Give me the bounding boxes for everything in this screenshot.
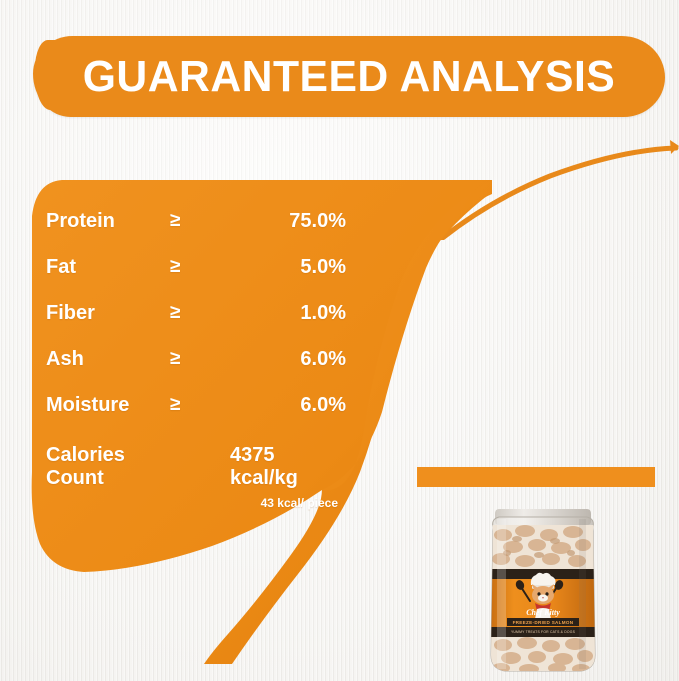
calories-value: 4375 kcal/kg bbox=[230, 444, 338, 490]
calories-value-line2: kcal/kg bbox=[230, 467, 338, 490]
table-row: Fat ≥ 5.0% bbox=[46, 252, 346, 282]
nutrient-value: 1.0% bbox=[232, 302, 346, 325]
infographic-page: GUARANTEED ANALYSIS Protein ≥ 75.0% bbox=[0, 0, 679, 681]
calories-per-piece: 43 kcal/ piece bbox=[198, 496, 338, 510]
nutrient-operator: ≥ bbox=[170, 348, 232, 370]
table-row: Ash ≥ 6.0% bbox=[46, 344, 346, 374]
analysis-rows: Protein ≥ 75.0% Fat ≥ 5.0% Fiber ≥ 1.0% … bbox=[22, 172, 492, 672]
guaranteed-analysis-panel: Protein ≥ 75.0% Fat ≥ 5.0% Fiber ≥ 1.0% … bbox=[22, 172, 492, 672]
nutrient-label: Protein bbox=[46, 210, 170, 233]
calories-label-line1: Calories bbox=[46, 444, 125, 467]
nutrient-value: 5.0% bbox=[232, 256, 346, 279]
title-banner: GUARANTEED ANALYSIS bbox=[33, 36, 665, 117]
nutrient-operator: ≥ bbox=[170, 210, 232, 232]
nutrient-label: Moisture bbox=[46, 394, 170, 417]
nutrient-operator: ≥ bbox=[170, 394, 232, 416]
table-row: Moisture ≥ 6.0% bbox=[46, 390, 346, 420]
page-title: GUARANTEED ANALYSIS bbox=[42, 36, 655, 117]
jar-tagline: YUMMY TREATS FOR CATS & DOGS bbox=[511, 630, 576, 634]
shelf-bar bbox=[417, 467, 655, 487]
nutrient-value: 75.0% bbox=[232, 210, 346, 233]
table-row: Fiber ≥ 1.0% bbox=[46, 298, 346, 328]
calories-label: Calories Count bbox=[46, 444, 125, 490]
product-jar: Chef Kitty FREEZE-DRIED SALMON YUMMY TRE… bbox=[483, 505, 603, 675]
calories-label-line2: Count bbox=[46, 467, 125, 490]
nutrient-label: Fiber bbox=[46, 302, 170, 325]
nutrient-label: Fat bbox=[46, 256, 170, 279]
nutrient-value: 6.0% bbox=[232, 394, 346, 417]
nutrient-value: 6.0% bbox=[232, 348, 346, 371]
nutrient-operator: ≥ bbox=[170, 302, 232, 324]
jar-variant-name: FREEZE-DRIED SALMON bbox=[513, 620, 574, 625]
calories-value-line1: 4375 bbox=[230, 444, 338, 467]
table-row: Protein ≥ 75.0% bbox=[46, 206, 346, 236]
nutrient-operator: ≥ bbox=[170, 256, 232, 278]
nutrient-label: Ash bbox=[46, 348, 170, 371]
